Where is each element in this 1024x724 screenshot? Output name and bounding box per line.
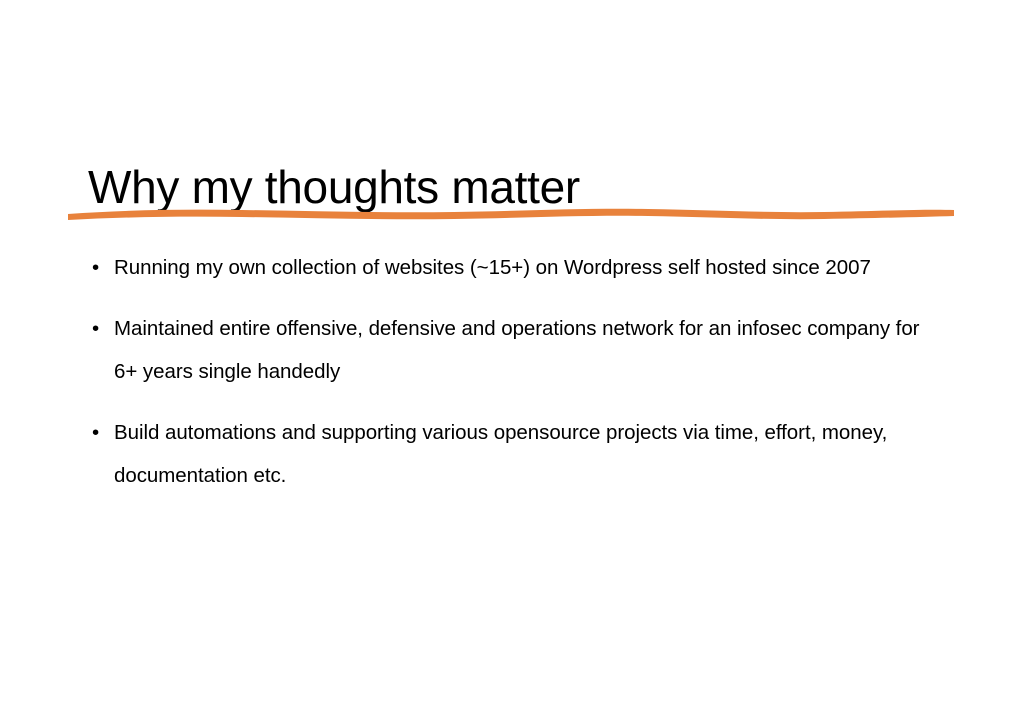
- bullet-text: Maintained entire offensive, defensive a…: [114, 307, 948, 393]
- bullet-point-icon: •: [92, 307, 106, 350]
- bullet-text: Running my own collection of websites (~…: [114, 246, 948, 289]
- bullet-point-icon: •: [92, 411, 106, 454]
- list-item: • Build automations and supporting vario…: [88, 411, 948, 497]
- bullet-text: Build automations and supporting various…: [114, 411, 948, 497]
- bullet-list: • Running my own collection of websites …: [88, 246, 948, 497]
- bullet-point-icon: •: [92, 246, 106, 289]
- presentation-slide: Why my thoughts matter • Running my own …: [0, 0, 1024, 724]
- list-item: • Running my own collection of websites …: [88, 246, 948, 289]
- list-item: • Maintained entire offensive, defensive…: [88, 307, 948, 393]
- slide-title: Why my thoughts matter: [88, 163, 968, 213]
